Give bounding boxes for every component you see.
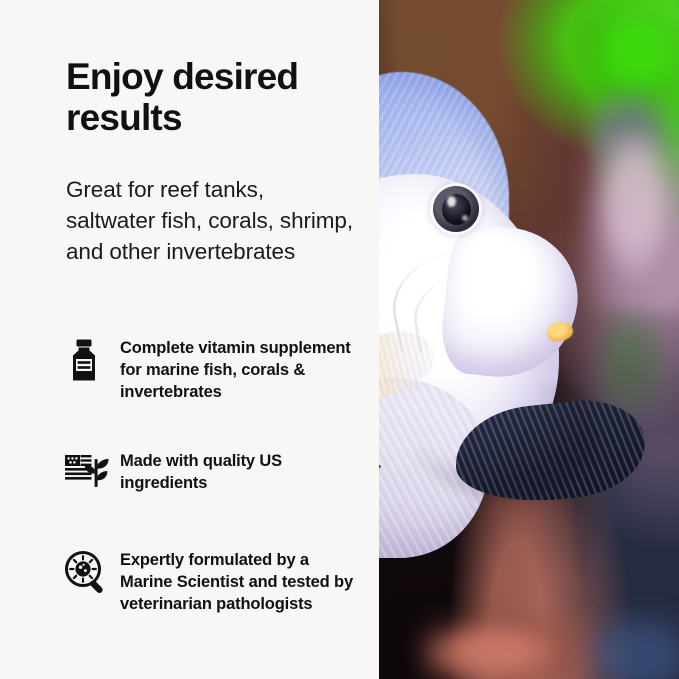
supplement-bottle-icon xyxy=(64,336,118,388)
eye-highlight xyxy=(447,196,456,207)
feature-text: Complete vitamin supplement for marine f… xyxy=(120,336,364,404)
feature-text: Made with quality US ingredients xyxy=(120,449,364,495)
feature-item-vitamin-supplement: Complete vitamin supplement for marine f… xyxy=(64,336,364,404)
body-shadow xyxy=(415,378,595,498)
blue-glow xyxy=(579,609,679,679)
eye-highlight-secondary xyxy=(462,215,468,221)
tang-fish xyxy=(379,78,625,548)
subheadline: Great for reef tanks, saltwater fish, co… xyxy=(66,174,356,267)
bottom-coral xyxy=(419,609,589,679)
feature-text: Expertly formulated by a Marine Scientis… xyxy=(120,548,364,616)
product-infographic: Enjoy desired results Great for reef tan… xyxy=(0,0,679,679)
magnifier-microbe-icon xyxy=(64,548,118,600)
product-photo xyxy=(379,0,679,679)
text-panel: Enjoy desired results Great for reef tan… xyxy=(0,0,379,679)
feature-item-expert-formulated: Expertly formulated by a Marine Scientis… xyxy=(64,548,364,616)
us-flag-plant-icon xyxy=(64,449,118,501)
feature-item-us-ingredients: Made with quality US ingredients xyxy=(64,449,364,501)
page-title: Enjoy desired results xyxy=(66,56,366,139)
